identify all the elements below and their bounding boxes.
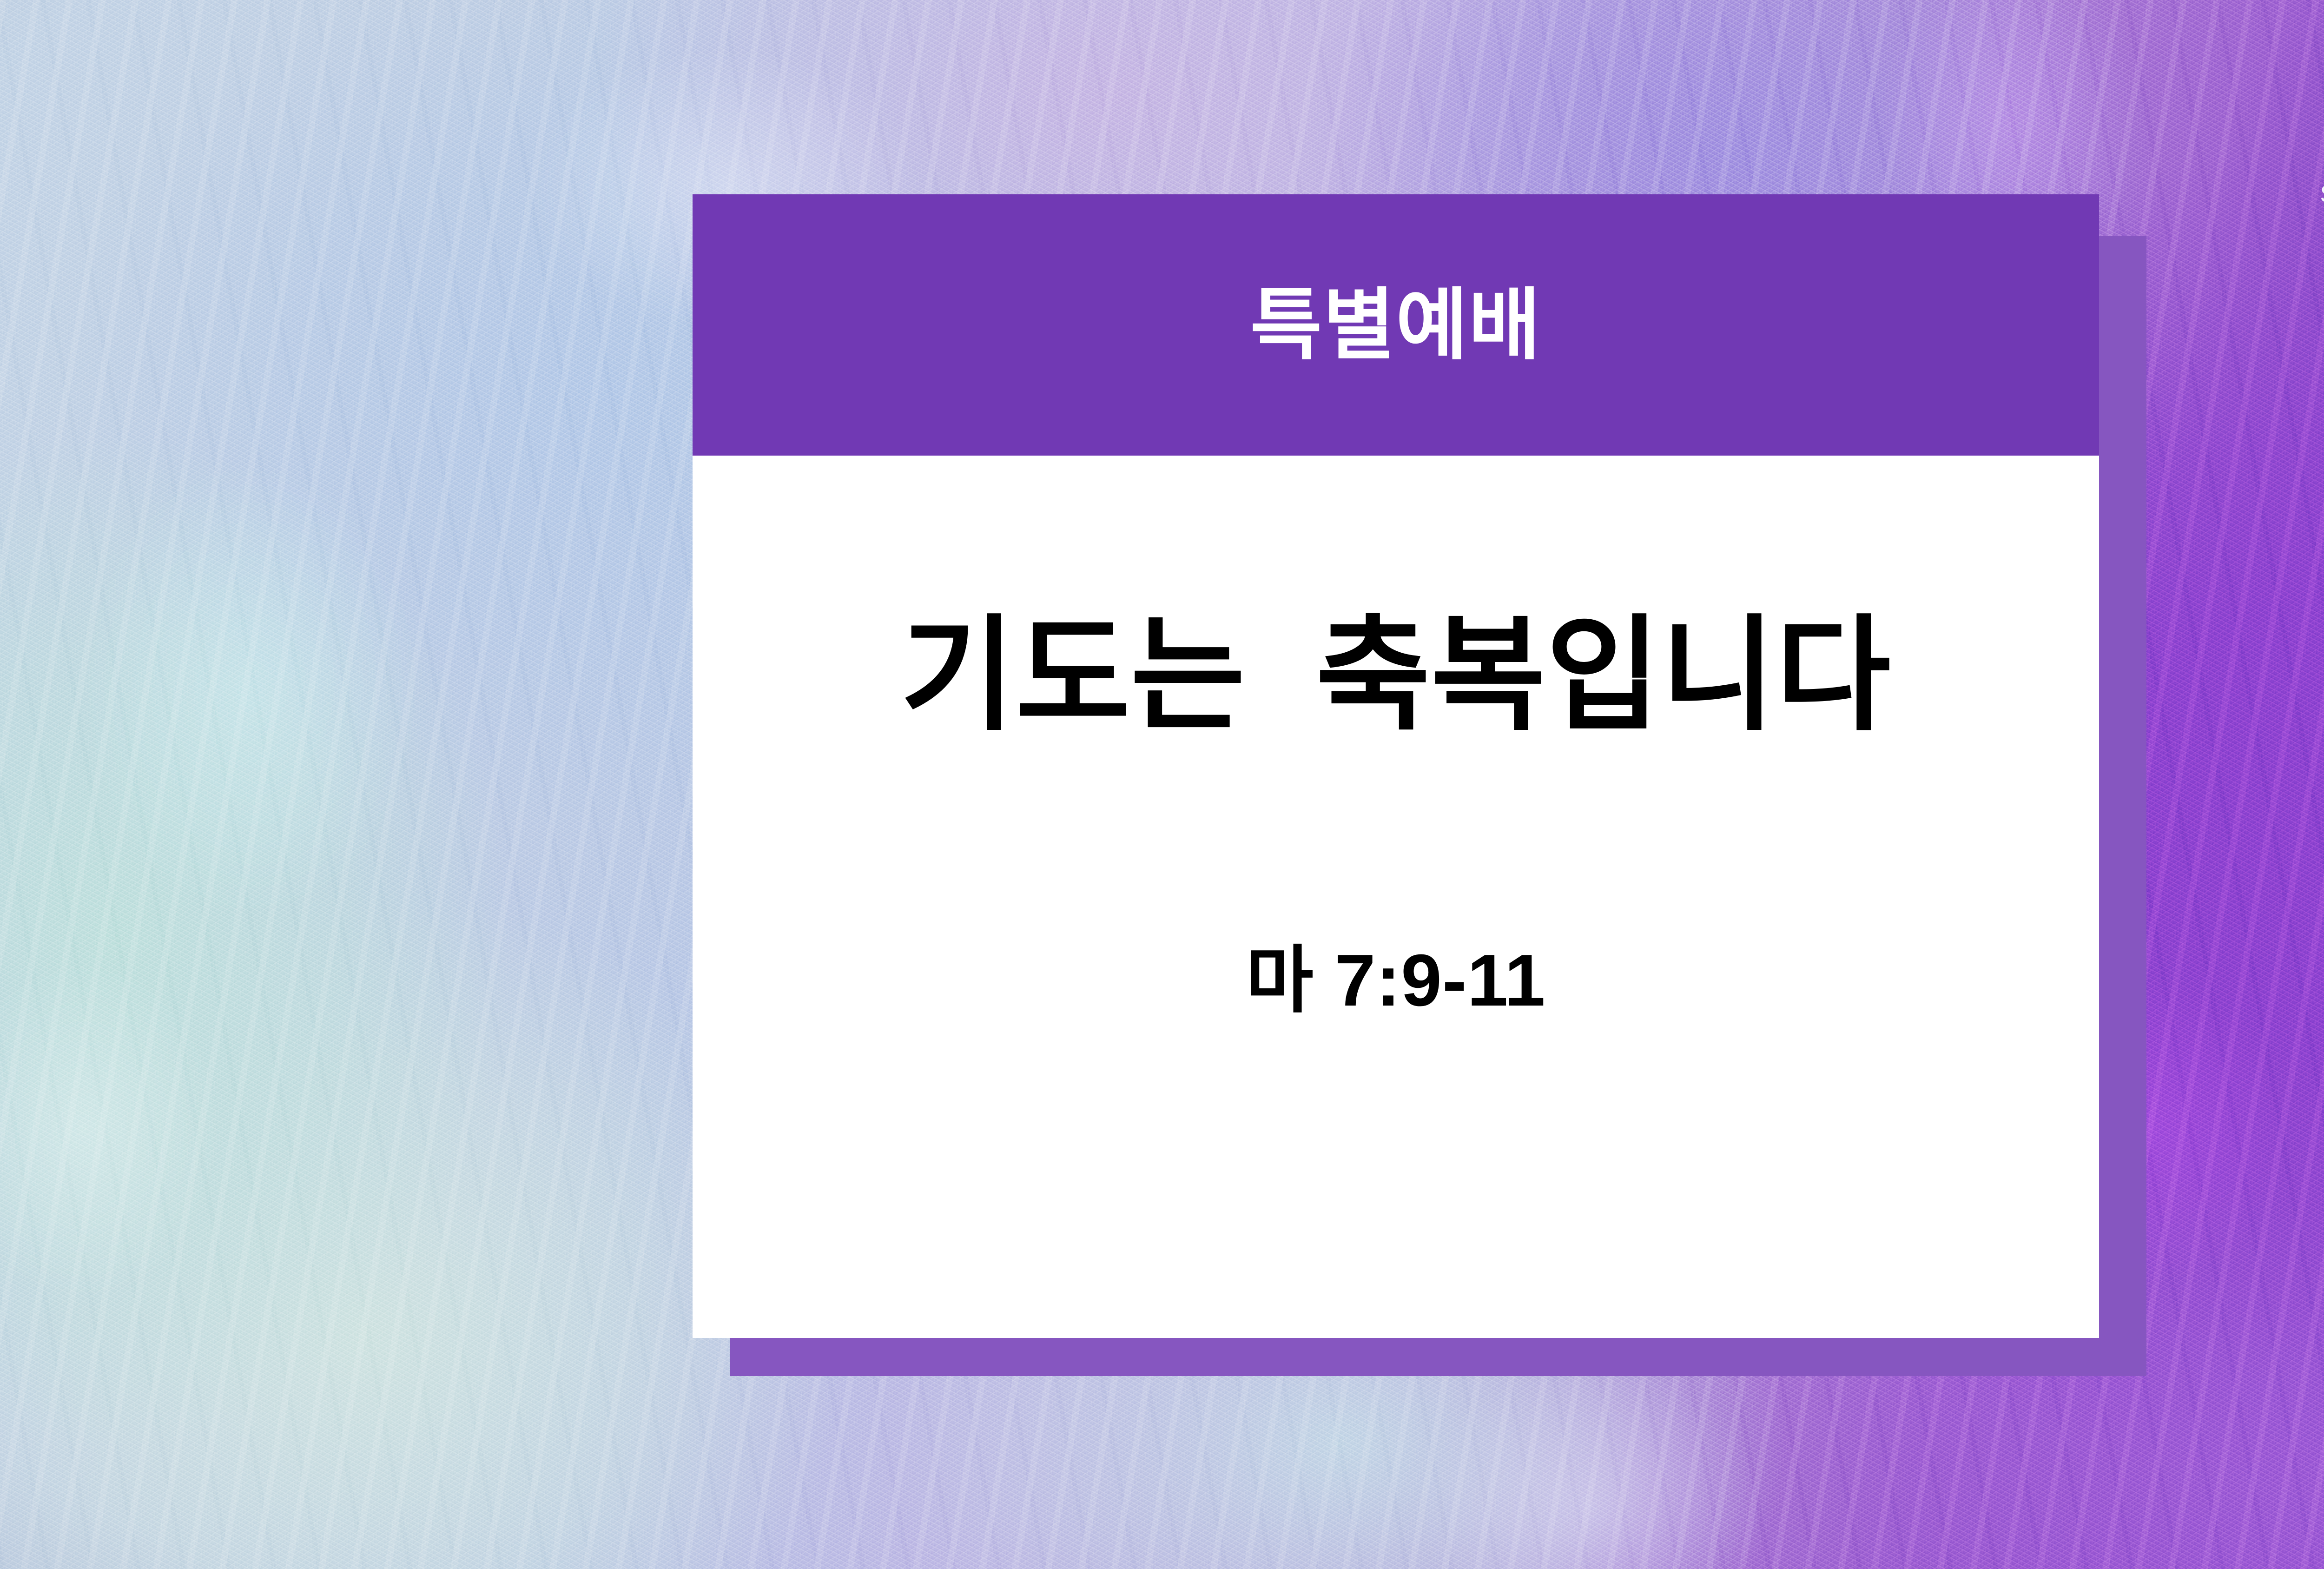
sermon-card: 특별예배 기도는 축복입니다 마 7:9-11 (693, 194, 2099, 1338)
sermon-title-slide: 특별예배 기도는 축복입니다 마 7:9-11 성일교회 SUNG-IL BAP… (0, 0, 2324, 1569)
scripture-reference: 마 7:9-11 (693, 944, 2099, 1017)
sermon-title: 기도는 축복입니다 (693, 609, 2099, 741)
card-body: 기도는 축복입니다 마 7:9-11 (693, 456, 2099, 1338)
card-header-band: 특별예배 (693, 194, 2099, 456)
logo-english-name: SUNG-IL BAPTIST CHURCH (2320, 182, 2324, 206)
service-type-label: 특별예배 (1250, 286, 1541, 364)
